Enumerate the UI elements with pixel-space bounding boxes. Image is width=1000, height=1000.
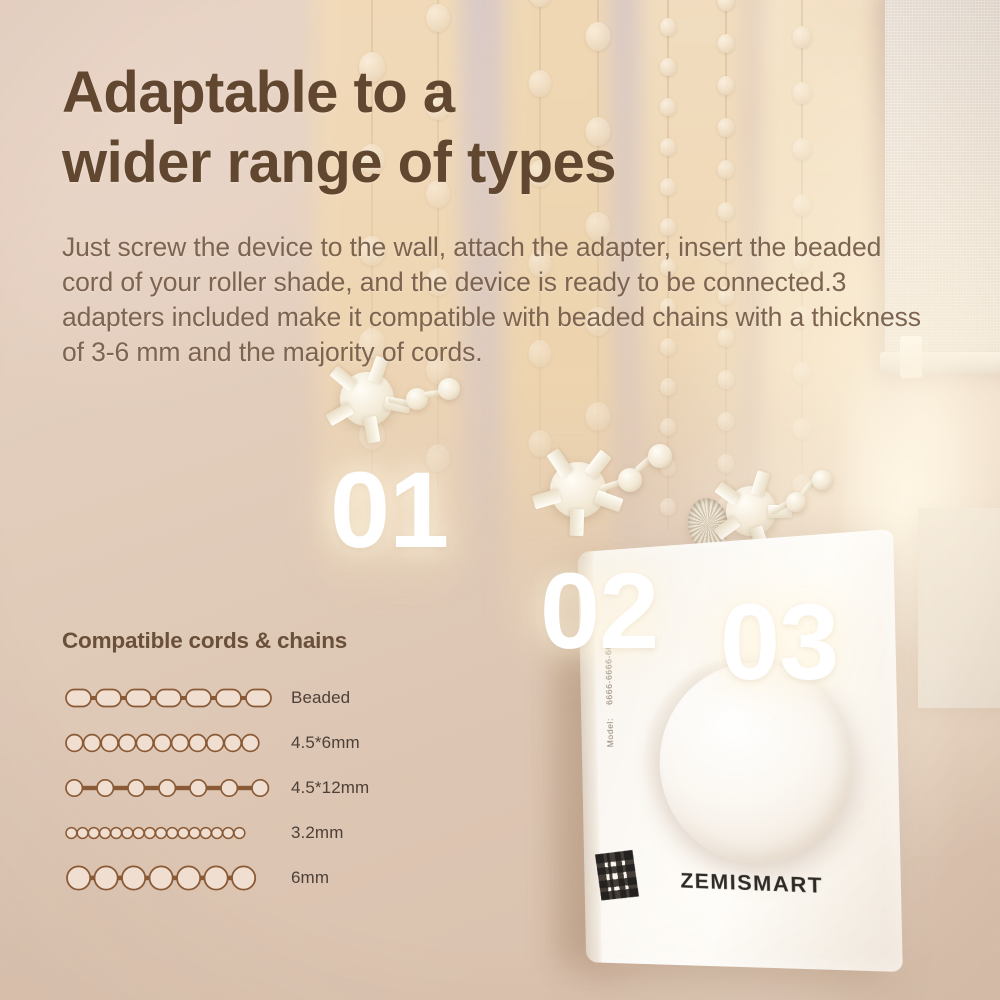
cord-diagram	[62, 818, 277, 848]
cord-diagram-small-round-touching	[62, 818, 277, 848]
chain-bead	[586, 22, 611, 51]
chain-bead	[718, 202, 735, 221]
cord-diagram	[62, 773, 277, 803]
chain-bead	[793, 138, 812, 160]
cord-row-list: Beaded4.5*6mm4.5*12mm3.2mm6mm	[62, 678, 482, 897]
compatible-cords-legend: Compatible cords & chains Beaded4.5*6mm4…	[62, 628, 482, 903]
brand-logo: ZEMISMART	[680, 869, 823, 899]
cord-diagram-round-spaced-bar	[62, 773, 277, 803]
cord-row: 4.5*6mm	[62, 723, 482, 762]
chain-bead	[660, 418, 676, 436]
cord-diagram	[62, 683, 277, 713]
cord-label: 4.5*12mm	[291, 778, 369, 798]
chain-bead	[529, 0, 552, 7]
qr-code-icon	[595, 850, 639, 900]
gear-tooth	[569, 509, 584, 536]
chain-bead	[648, 444, 672, 468]
chain-bead	[812, 470, 832, 490]
chain-bead	[586, 402, 611, 431]
cord-row: 3.2mm	[62, 813, 482, 852]
chain-bead	[718, 370, 735, 389]
step-number-01: 01	[330, 456, 448, 564]
chain-bead	[793, 194, 812, 216]
chain-bead	[793, 82, 812, 104]
chain-bead	[718, 0, 735, 11]
legend-title: Compatible cords & chains	[62, 628, 482, 654]
chain-bead	[793, 418, 812, 440]
cord-diagram	[62, 863, 277, 893]
body-paragraph: Just screw the device to the wall, attac…	[62, 230, 922, 370]
cord-label: 3.2mm	[291, 823, 343, 843]
chain-bead	[660, 18, 676, 36]
roller-shade-lower-panel	[918, 508, 1000, 708]
adapter-02	[538, 440, 678, 550]
cord-diagram-oval-linked	[62, 683, 277, 713]
cord-diagram-round-touching	[62, 728, 277, 758]
chain-bead	[793, 26, 812, 48]
cord-row: 6mm	[62, 858, 482, 897]
cord-label: Beaded	[291, 688, 350, 708]
headline-line-2: wider range of types	[62, 128, 762, 198]
gear-tooth	[325, 402, 354, 426]
chain-bead	[718, 412, 735, 431]
chain-bead	[438, 378, 460, 400]
chain-bead	[660, 378, 676, 396]
cord-diagram-large-round-bar	[62, 863, 277, 893]
cord-row: 4.5*12mm	[62, 768, 482, 807]
chain-bead	[426, 4, 450, 32]
cord-label: 6mm	[291, 868, 329, 888]
cord-diagram	[62, 728, 277, 758]
chain-bead	[718, 34, 735, 53]
step-number-03: 03	[720, 588, 838, 696]
headline-line-1: Adaptable to a	[62, 60, 455, 125]
cord-row: Beaded	[62, 678, 482, 717]
step-number-02: 02	[540, 557, 658, 665]
page-title: Adaptable to a wider range of types	[62, 58, 762, 197]
product-banner: Model: 6666-6666-6666 ZEMISMART Adaptabl…	[0, 0, 1000, 1000]
cord-label: 4.5*6mm	[291, 733, 360, 753]
